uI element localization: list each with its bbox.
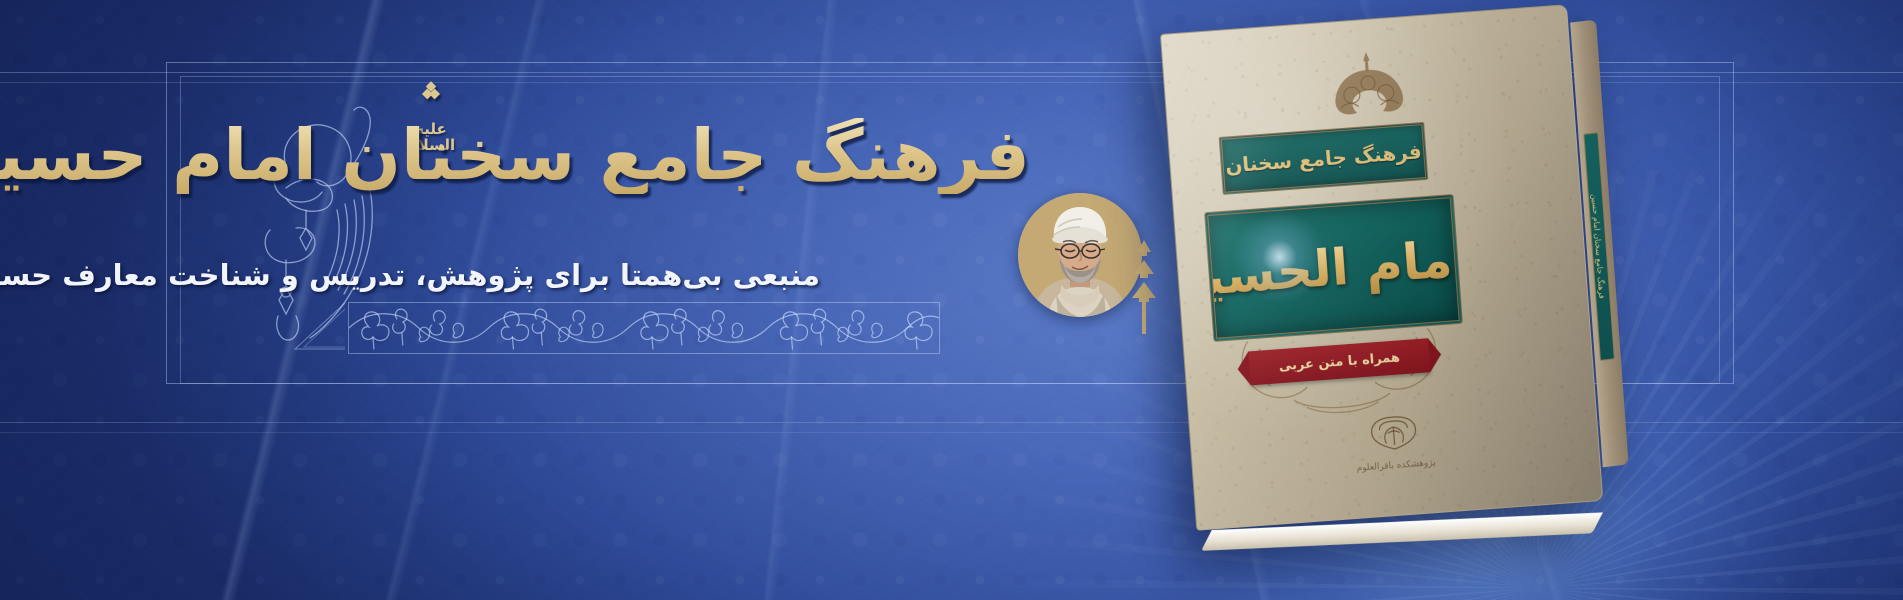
book-front-cover: فرهنگ جامع سخنان الامام الحسین همراه با …	[1160, 4, 1603, 531]
banner-title: فرهنگ جامع سخنان امام حسین	[0, 118, 1030, 194]
book-cover-calligraphy-plate: الامام الحسین	[1204, 194, 1463, 342]
promo-banner: ؞ علیه السلام فرهنگ جامع سخنان امام حسین…	[0, 0, 1903, 600]
crown-arabesque-ornament	[1297, 45, 1440, 123]
hairline-top-2	[0, 82, 1903, 83]
publisher-logo-icon	[1365, 413, 1421, 453]
hairline-top-1	[0, 72, 1903, 73]
speaker-portrait-avatar	[1018, 193, 1142, 317]
book-cover-plate-text: الامام الحسین	[1204, 226, 1463, 309]
book-cover-band-text: فرهنگ جامع سخنان	[1224, 139, 1422, 177]
publisher-logo-block: پژوهشکده باقرالعلوم	[1333, 411, 1457, 477]
book-product-image[interactable]: فرهنگ جامع سخنان امام حسین فر	[1160, 3, 1616, 542]
vine-scroll-pattern	[349, 303, 939, 353]
banner-subtitle: منبعی بی‌همتا برای پژوهش، تدریس و شناخت …	[0, 258, 820, 292]
portrait-illustration	[1018, 193, 1142, 317]
arabesque-ornament-band	[348, 302, 940, 354]
title-container: فرهنگ جامع سخنان امام حسین	[330, 96, 1030, 216]
light-streaks-overlay	[0, 0, 1903, 600]
book-ribbon-text: همراه با متن عربی	[1278, 350, 1400, 374]
